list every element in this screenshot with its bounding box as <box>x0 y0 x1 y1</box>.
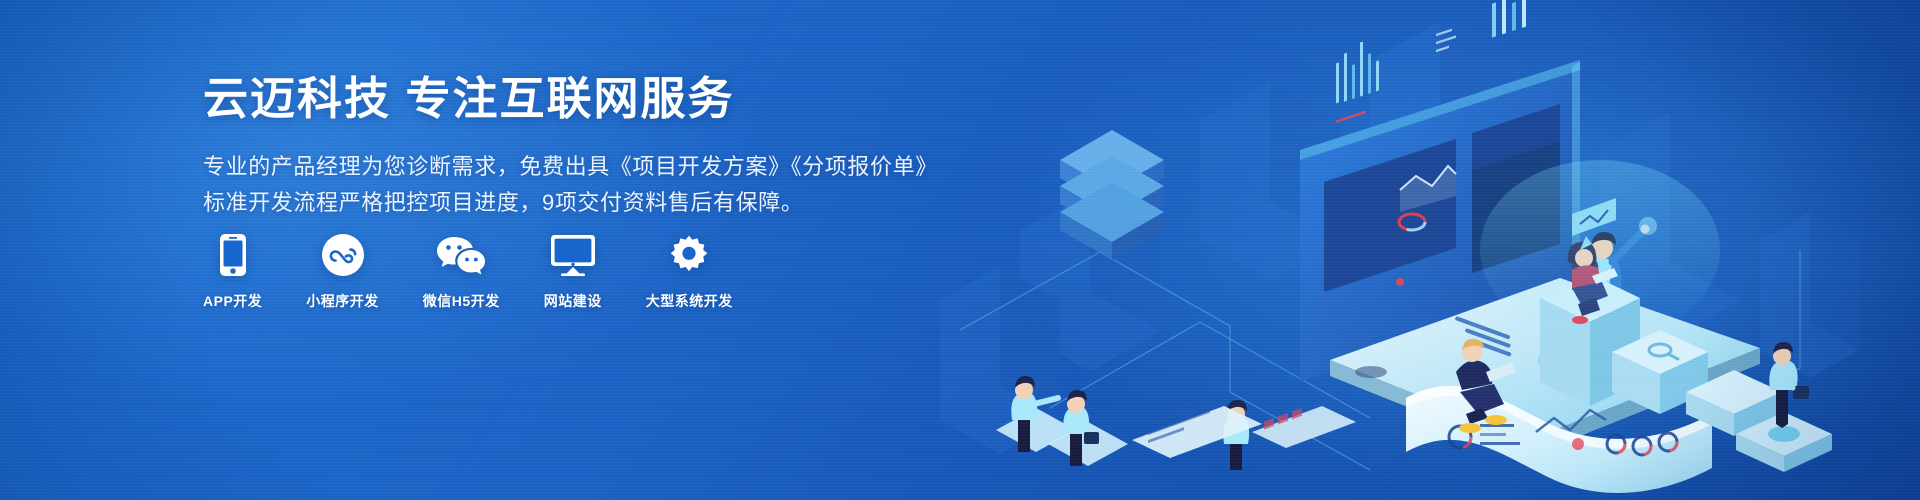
person-pair <box>996 376 1128 466</box>
service-label: 网站建设 <box>544 291 602 311</box>
glow-accents <box>1480 160 1720 340</box>
subtitle-line-2: 标准开发流程严格把控项目进度，9项交付资料售后有保障。 <box>203 185 963 221</box>
service-label: 大型系统开发 <box>646 291 733 311</box>
page-title: 云迈科技 专注互联网服务 <box>203 72 963 127</box>
mobile-phone-icon <box>219 232 247 278</box>
hero-subtitle: 专业的产品经理为您诊断需求，免费出具《项目开发方案》《分项报价单》 标准开发流程… <box>203 149 963 220</box>
wechat-icon <box>434 232 488 278</box>
hero-copy: 云迈科技 专注互联网服务 专业的产品经理为您诊断需求，免费出具《项目开发方案》《… <box>203 72 963 220</box>
gear-icon <box>667 232 711 278</box>
service-label: 小程序开发 <box>306 291 379 311</box>
service-list: APP开发 小程序开发 <box>203 232 733 311</box>
monitor-icon <box>550 232 596 278</box>
mini-program-icon <box>321 232 365 278</box>
subtitle-line-1: 专业的产品经理为您诊断需求，免费出具《项目开发方案》《分项报价单》 <box>203 149 963 185</box>
hero-illustration <box>900 0 1920 500</box>
service-label: 微信H5开发 <box>423 291 500 311</box>
service-item-app[interactable]: APP开发 <box>203 232 262 311</box>
service-item-website[interactable]: 网站建设 <box>544 232 602 311</box>
hero-banner: 云迈科技 专注互联网服务 专业的产品经理为您诊断需求，免费出具《项目开发方案》《… <box>0 0 1920 500</box>
service-item-wechat-h5[interactable]: 微信H5开发 <box>423 232 500 311</box>
screen-bars-right <box>1492 0 1526 38</box>
service-label: APP开发 <box>203 291 262 311</box>
service-item-large-system[interactable]: 大型系统开发 <box>646 232 733 311</box>
service-item-miniprogram[interactable]: 小程序开发 <box>306 232 379 311</box>
